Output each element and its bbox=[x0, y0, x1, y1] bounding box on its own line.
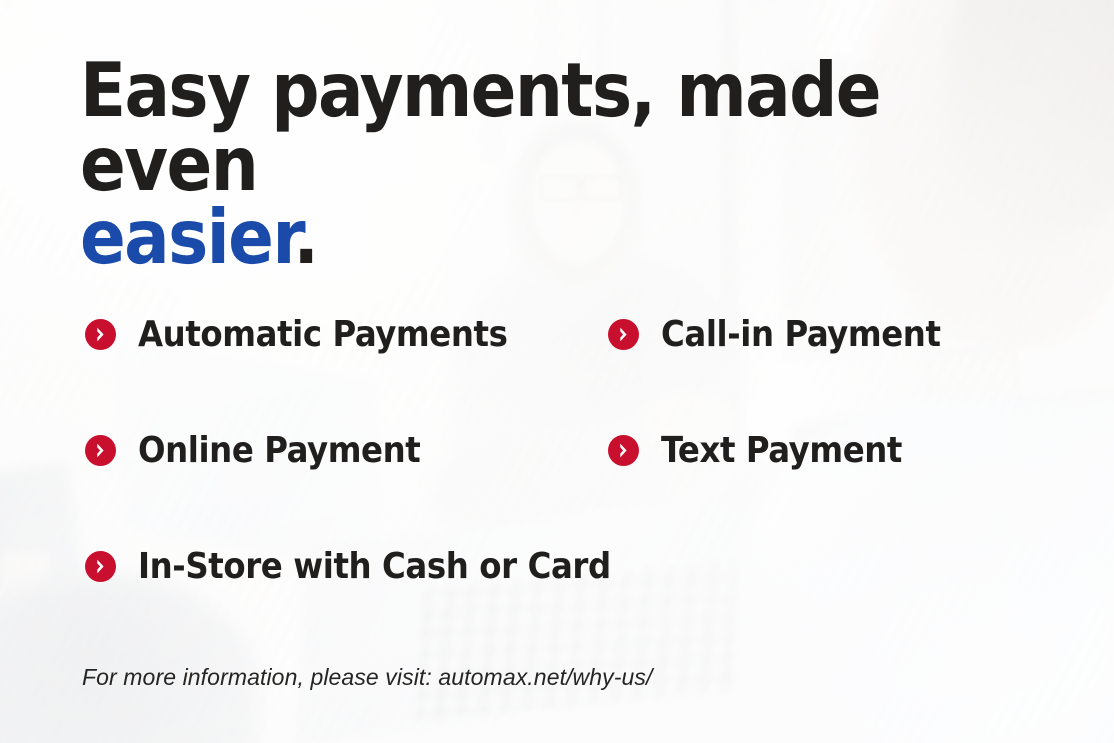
feature-row-1: Automatic Payments Call-in Payment bbox=[0, 314, 1114, 430]
chevron-right-icon bbox=[608, 435, 639, 466]
chevron-right-icon bbox=[85, 319, 116, 350]
footnote-text: For more information, please visit: auto… bbox=[82, 664, 653, 691]
banner-content: Easy payments, made even easier. Automat… bbox=[0, 0, 1114, 743]
list-item-in-store-cash-or-card[interactable]: In-Store with Cash or Card bbox=[85, 546, 611, 587]
feature-row-2: Online Payment Text Payment bbox=[0, 430, 1114, 546]
list-item-online-payment[interactable]: Online Payment bbox=[85, 430, 420, 471]
chevron-right-icon bbox=[85, 435, 116, 466]
list-item-label: Call-in Payment bbox=[661, 314, 941, 355]
list-item-automatic-payments[interactable]: Automatic Payments bbox=[85, 314, 507, 355]
headline-emphasis: easier bbox=[80, 193, 293, 281]
headline-line-2: easier. bbox=[80, 201, 1040, 275]
list-item-label: Text Payment bbox=[661, 430, 902, 471]
headline-line-1: Easy payments, made even bbox=[80, 46, 880, 208]
payment-options-list: Automatic Payments Call-in Payment bbox=[0, 314, 1114, 662]
chevron-right-icon bbox=[608, 319, 639, 350]
feature-row-3: In-Store with Cash or Card bbox=[0, 546, 1114, 662]
headline: Easy payments, made even easier. bbox=[80, 54, 1040, 275]
list-item-call-in-payment[interactable]: Call-in Payment bbox=[608, 314, 941, 355]
chevron-right-icon bbox=[85, 551, 116, 582]
list-item-label: In-Store with Cash or Card bbox=[138, 546, 611, 587]
list-item-label: Automatic Payments bbox=[138, 314, 507, 355]
list-item-text-payment[interactable]: Text Payment bbox=[608, 430, 902, 471]
promo-banner: Easy payments, made even easier. Automat… bbox=[0, 0, 1114, 743]
headline-period: . bbox=[293, 193, 317, 281]
list-item-label: Online Payment bbox=[138, 430, 420, 471]
